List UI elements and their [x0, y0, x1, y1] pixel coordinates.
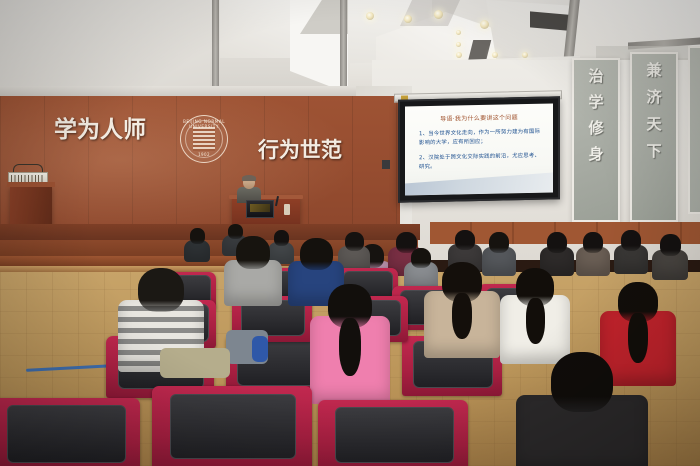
person-ponytail	[526, 298, 545, 344]
person-head	[190, 228, 205, 244]
attendee-plaid-coat	[424, 262, 500, 358]
attendee-row-back-8	[652, 234, 688, 280]
attendee-gray-hoodie	[224, 236, 282, 306]
person-head	[547, 232, 567, 253]
person-head	[660, 234, 681, 256]
attendee-row-back-6	[576, 232, 610, 276]
person-head	[621, 230, 641, 251]
audience	[0, 0, 700, 466]
seat-backrest	[335, 407, 454, 464]
person-head	[583, 232, 603, 253]
person-head	[300, 238, 333, 270]
person-ponytail	[339, 318, 361, 376]
attendee-dark-coat-front	[516, 352, 648, 466]
person-head	[236, 236, 270, 269]
jacket-on-seat	[160, 348, 230, 378]
person-head	[551, 352, 613, 412]
attendee-pink-coat	[310, 284, 390, 404]
attendee-row-back-7	[614, 230, 648, 274]
person-head	[455, 230, 475, 250]
person-head	[138, 268, 184, 312]
seat-backrest	[7, 405, 126, 463]
attendee-row-back-11	[184, 228, 210, 262]
attendee-white-down	[500, 268, 570, 364]
backpack-strap	[252, 336, 268, 362]
lecture-hall-photo: 学为人师 行为世范 BEIJING NORMAL UNIVERSITY 1902…	[0, 0, 700, 466]
person-head	[489, 232, 509, 253]
person-ponytail	[452, 293, 472, 339]
person-head	[345, 232, 364, 251]
seat-front-right	[318, 400, 468, 466]
seat-front-mid	[152, 386, 312, 466]
seat-front-left	[0, 398, 140, 466]
seat-backrest	[170, 394, 297, 460]
